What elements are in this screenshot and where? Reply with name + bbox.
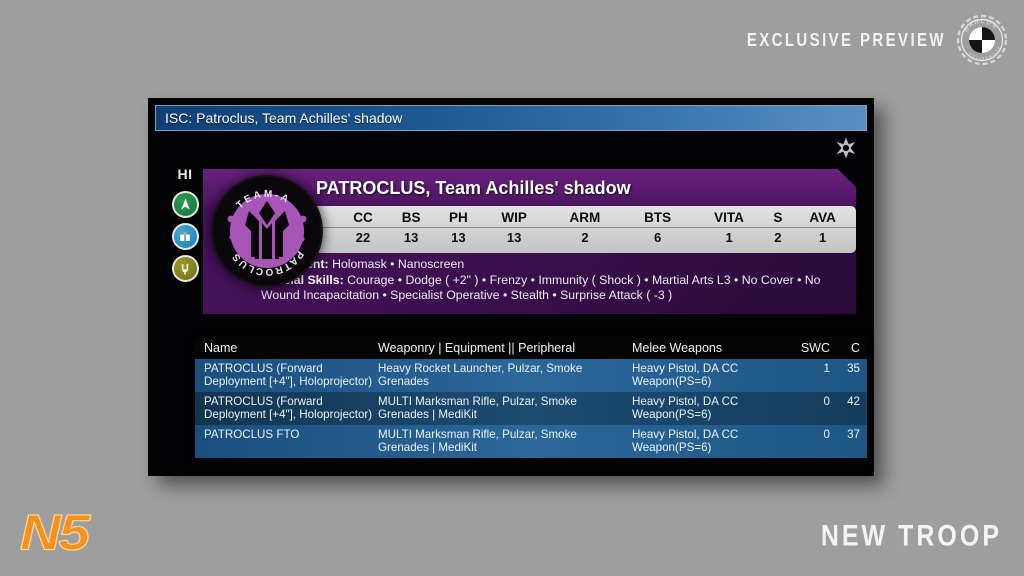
skills-value: Courage • Dodge ( +2" ) • Frenzy • Immun…	[261, 273, 821, 303]
stat-header-ava: AVA	[789, 209, 856, 228]
screenshot-root: EXCLUSIVE PREVIEW WARCOR ACCREDITED	[0, 0, 1024, 576]
cell-melee: Heavy Pistol, DA CC Weapon(PS=6)	[632, 359, 792, 392]
stat-value-bts: 6	[624, 228, 692, 246]
col-header-name: Name	[195, 338, 378, 359]
regular-order-icon[interactable]	[172, 223, 199, 250]
n5-brand-logo: N5	[20, 504, 88, 562]
cell-melee: Heavy Pistol, DA CC Weapon(PS=6)	[632, 392, 792, 425]
table-row[interactable]: PATROCLUS (Forward Deployment [+4"], Hol…	[195, 359, 867, 392]
cell-name: PATROCLUS FTO	[195, 425, 378, 458]
stat-value-arm: 2	[546, 228, 623, 246]
equipment-line: Equipment: Holomask • Nanoscreen	[261, 257, 842, 273]
cell-cost: 42	[834, 392, 867, 425]
stat-value-vita: 1	[692, 228, 767, 246]
stat-header-cc: CC	[338, 209, 387, 228]
stats-header-row: MOV CC BS PH WIP ARM BTS VITA S AVA	[261, 209, 856, 228]
troop-type-column: HI	[160, 166, 210, 282]
stats-value-row: 6-4 22 13 13 13 2 6 1 2 1	[261, 228, 856, 246]
profiles-table: Name Weaponry | Equipment || Peripheral …	[195, 337, 867, 468]
movement-order-icon[interactable]	[172, 191, 199, 218]
col-header-weaponry: Weaponry | Equipment || Peripheral	[378, 338, 632, 359]
profiles-table-header: Name Weaponry | Equipment || Peripheral …	[195, 337, 867, 359]
stat-header-ph: PH	[435, 209, 482, 228]
cell-cost: 37	[834, 425, 867, 458]
equipment-value: Holomask • Nanoscreen	[332, 257, 464, 271]
col-header-swc: SWC	[792, 338, 834, 359]
sparkle-icon[interactable]	[835, 137, 857, 159]
skills-line: Special Skills: Courage • Dodge ( +2" ) …	[261, 273, 842, 304]
table-row[interactable]: PATROCLUS (Forward Deployment [+4"], Hol…	[195, 392, 867, 425]
new-troop-label: NEW TROOP	[821, 519, 1002, 554]
cell-weaponry: MULTI Marksman Rifle, Pulzar, Smoke Gren…	[378, 425, 632, 458]
stat-header-bts: BTS	[624, 209, 692, 228]
cell-weaponry: Heavy Rocket Launcher, Pulzar, Smoke Gre…	[378, 359, 632, 392]
faction-emblem: TEAM-A PATROCLUS	[211, 175, 323, 287]
stat-value-bs: 13	[388, 228, 435, 246]
stat-header-bs: BS	[388, 209, 435, 228]
isc-title-bar: ISC: Patroclus, Team Achilles' shadow	[155, 105, 867, 131]
stat-value-s: 2	[767, 228, 790, 246]
cell-melee: Heavy Pistol, DA CC Weapon(PS=6)	[632, 425, 792, 458]
cell-name: PATROCLUS (Forward Deployment [+4"], Hol…	[195, 392, 378, 425]
unit-name: PATROCLUS, Team Achilles' shadow	[316, 178, 631, 199]
stat-value-ph: 13	[435, 228, 482, 246]
troop-profile-window: ISC: Patroclus, Team Achilles' shadow HI	[148, 98, 874, 476]
irregular-order-icon[interactable]	[172, 255, 199, 282]
stat-header-arm: ARM	[546, 209, 623, 228]
unit-traits-block: Equipment: Holomask • Nanoscreen Special…	[261, 257, 842, 304]
exclusive-preview-label: EXCLUSIVE PREVIEW	[747, 29, 946, 50]
stat-value-wip: 13	[482, 228, 546, 246]
unit-stats-strip: MOV CC BS PH WIP ARM BTS VITA S AVA 6-4 …	[261, 206, 856, 253]
unit-card: PATROCLUS, Team Achilles' shadow MOV CC …	[203, 169, 856, 314]
cell-cost: 35	[834, 359, 867, 392]
table-row[interactable]: PATROCLUS FTO MULTI Marksman Rifle, Pulz…	[195, 425, 867, 458]
warcor-badge-icon: WARCOR ACCREDITED	[956, 14, 1008, 66]
cell-swc: 0	[792, 425, 834, 458]
cell-swc: 1	[792, 359, 834, 392]
isc-title-text: ISC: Patroclus, Team Achilles' shadow	[156, 110, 402, 126]
col-header-melee: Melee Weapons	[632, 338, 792, 359]
stat-value-ava: 1	[789, 228, 856, 246]
stat-header-vita: VITA	[692, 209, 767, 228]
stat-value-cc: 22	[338, 228, 387, 246]
cell-swc: 0	[792, 392, 834, 425]
cell-weaponry: MULTI Marksman Rifle, Pulzar, Smoke Gren…	[378, 392, 632, 425]
cell-name: PATROCLUS (Forward Deployment [+4"], Hol…	[195, 359, 378, 392]
stat-header-wip: WIP	[482, 209, 546, 228]
unit-stats-table: MOV CC BS PH WIP ARM BTS VITA S AVA 6-4 …	[261, 209, 856, 245]
troop-type-label: HI	[178, 166, 193, 182]
col-header-cost: C	[834, 338, 867, 359]
exclusive-preview-watermark: EXCLUSIVE PREVIEW WARCOR ACCREDITED	[747, 14, 1008, 66]
stat-header-s: S	[767, 209, 790, 228]
